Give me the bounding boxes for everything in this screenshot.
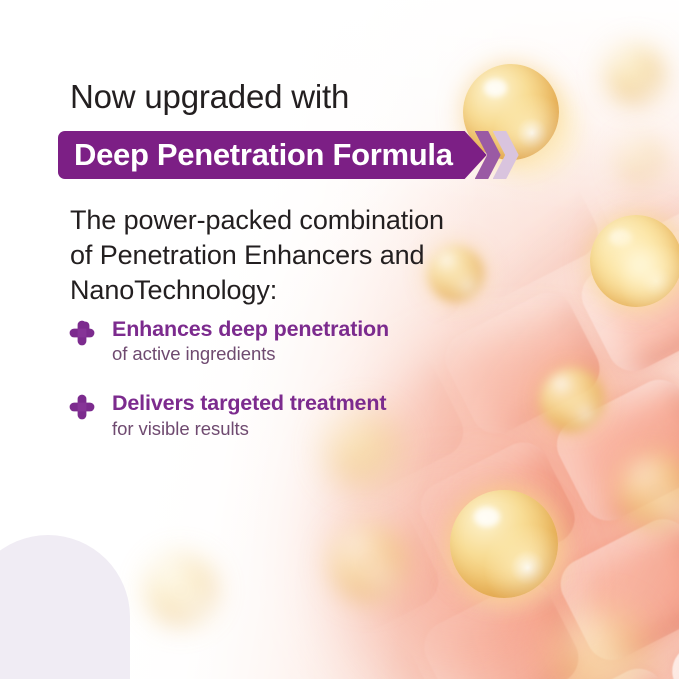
benefit-title: Enhances deep penetration: [112, 317, 389, 341]
plus-cross-icon: [68, 393, 96, 421]
benefit-subtitle: for visible results: [112, 418, 249, 439]
kicker-headline: Now upgraded with: [70, 79, 349, 115]
formula-banner-label: Deep Penetration Formula: [74, 137, 453, 173]
body-paragraph: The power-packed combination of Penetrat…: [70, 203, 500, 308]
formula-banner-body: Deep Penetration Formula: [58, 131, 487, 179]
poster-content: Now upgraded with Deep Penetration Formu…: [0, 0, 679, 679]
benefit-title: Delivers targeted treatment: [112, 391, 386, 415]
body-line: of Penetration Enhancers and: [70, 238, 500, 273]
benefit-text: Delivers targeted treatment for visible …: [112, 390, 498, 440]
benefit-item: Enhances deep penetration of active ingr…: [68, 316, 498, 366]
formula-banner: Deep Penetration Formula: [58, 131, 519, 179]
benefit-text: Enhances deep penetration of active ingr…: [112, 316, 498, 366]
benefit-subtitle: of active ingredients: [112, 343, 276, 364]
promo-poster: Now upgraded with Deep Penetration Formu…: [0, 0, 679, 679]
plus-cross-icon: [68, 319, 96, 347]
body-line: The power-packed combination: [70, 203, 500, 238]
body-line: NanoTechnology:: [70, 273, 500, 308]
benefit-item: Delivers targeted treatment for visible …: [68, 390, 498, 440]
benefit-list: Enhances deep penetration of active ingr…: [68, 316, 498, 465]
